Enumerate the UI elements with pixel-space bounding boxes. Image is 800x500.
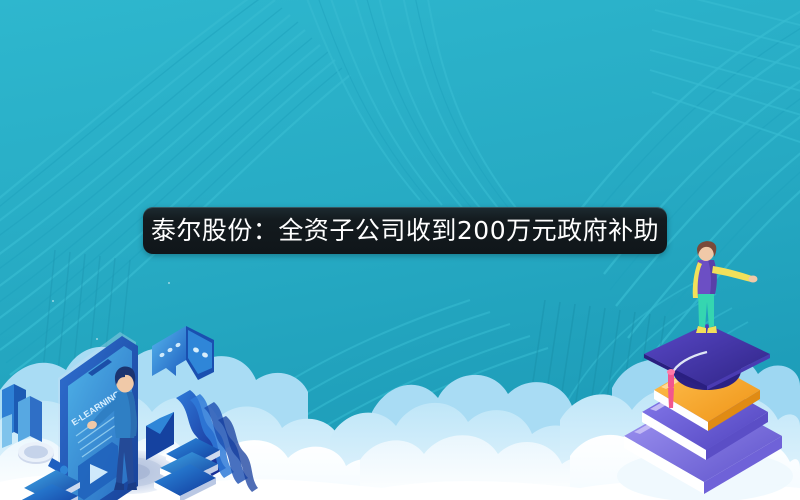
news-banner: E-LEARNING <box>0 0 800 500</box>
bar-chart-prop <box>2 384 42 448</box>
chat-bubbles-prop <box>152 326 214 380</box>
e-learning-illustration: E-LEARNING <box>0 240 300 500</box>
headline-plate: 泰尔股份：全资子公司收到200万元政府补助 <box>143 207 667 254</box>
standing-person-right <box>693 241 758 333</box>
graduation-illustration <box>610 240 800 500</box>
headline-text: 泰尔股份：全资子公司收到200万元政府补助 <box>151 218 659 243</box>
